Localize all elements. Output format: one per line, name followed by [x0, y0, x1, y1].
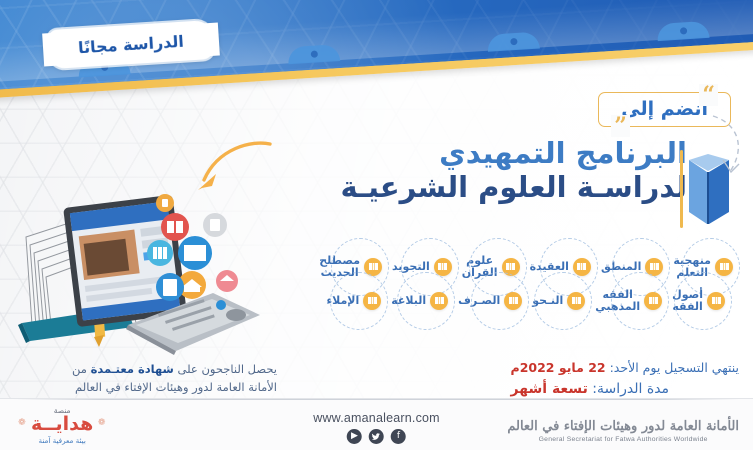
- dates-info: ينتهي التسجيل يوم الأحد: 22 مايو 2022م م…: [511, 358, 739, 401]
- general-secretariat-logo: الأمانة العامة لدور وهيئات الإفتاء في ال…: [507, 419, 739, 443]
- open-book-icon: [707, 292, 725, 310]
- subject-label: التجويد: [392, 261, 430, 273]
- social-links: ▶ f: [313, 429, 440, 444]
- curved-orange-arrow-icon: [188, 138, 274, 204]
- subject-label: الصـرف: [458, 295, 500, 307]
- certificate-suffix: من: [72, 362, 91, 376]
- quote-close-icon: ”: [611, 115, 630, 137]
- join-label: انضم إلى: [621, 98, 708, 120]
- registration-deadline-value: 22 مايو 2022م: [511, 360, 606, 375]
- subject-bubble[interactable]: العقيدة: [524, 255, 593, 279]
- subject-bubble[interactable]: أصول الفقه: [666, 286, 727, 315]
- subject-bubble[interactable]: الفقه المذهبي: [589, 286, 664, 315]
- website-url[interactable]: www.amanalearn.com: [313, 411, 440, 425]
- footer-bar: الأمانة العامة لدور وهيئات الإفتاء في ال…: [0, 398, 753, 450]
- open-book-icon: [715, 258, 733, 276]
- subjects-row-bottom: أصول الفقه الفقه المذهبي النـحو: [305, 286, 727, 315]
- subject-bubble[interactable]: مصطلح الحديث: [313, 252, 384, 281]
- free-study-label: الدراسة مجانًا: [78, 32, 185, 58]
- footer-divider: [14, 399, 739, 400]
- hidaya-logo-tagline: بيئة معرفية آمنة: [18, 436, 106, 445]
- subject-label: الإملاء: [326, 295, 359, 307]
- open-book-icon: [430, 292, 448, 310]
- certificate-highlight: شهادة معتـمدة: [91, 362, 174, 376]
- page-title-line1: البرنامج التمهيدي: [341, 137, 688, 169]
- open-book-icon: [573, 258, 591, 276]
- quote-open-icon: “: [699, 84, 718, 106]
- subject-bubble[interactable]: البلاغة: [385, 289, 450, 313]
- subject-label: علوم القرآن: [462, 255, 498, 278]
- open-book-icon: [567, 292, 585, 310]
- hidaya-logo-main: هدايــة: [18, 415, 106, 435]
- title-gold-rule: [680, 150, 683, 228]
- subject-label: أصول الفقه: [672, 289, 703, 312]
- study-duration-value: تسعة أشهر: [511, 381, 588, 397]
- open-book-icon: [644, 292, 662, 310]
- subject-bubble[interactable]: النـحو: [526, 289, 587, 313]
- curved-dashed-arrow-icon: [705, 112, 749, 188]
- open-book-icon: [434, 258, 452, 276]
- subject-label: مصطلح الحديث: [319, 255, 360, 278]
- promo-banner: الدراسة مجانًا “ انضم إلى ” البرنامج الت…: [0, 0, 753, 450]
- subject-label: البلاغة: [391, 295, 426, 307]
- registration-deadline: ينتهي التسجيل يوم الأحد: 22 مايو 2022م: [511, 358, 739, 378]
- secretariat-logo-arabic: الأمانة العامة لدور وهيئات الإفتاء في ال…: [507, 419, 739, 434]
- subject-bubble[interactable]: الصـرف: [452, 289, 524, 313]
- subject-bubble[interactable]: منهجية التعلم: [667, 252, 735, 281]
- open-book-icon: [502, 258, 520, 276]
- subject-bubble[interactable]: علوم القرآن: [456, 252, 522, 281]
- youtube-icon[interactable]: ▶: [347, 429, 362, 444]
- subjects-list: منهجية التعلم المنطق العقيدة: [305, 252, 735, 340]
- certificate-note-line1: يحصل الناجحون على شهادة معتـمدة من: [14, 360, 277, 378]
- footer-center: www.amanalearn.com ▶ f: [313, 411, 440, 444]
- twitter-icon[interactable]: [369, 429, 384, 444]
- subject-bubble[interactable]: المنطق: [595, 255, 665, 279]
- facebook-icon[interactable]: f: [391, 429, 406, 444]
- subject-bubble[interactable]: التجويد: [386, 255, 454, 279]
- certificate-note-line2: الأمانة العامة لدور وهيئات الإفتاء في ال…: [14, 378, 277, 396]
- subject-bubble[interactable]: الإملاء: [320, 289, 383, 313]
- secretariat-logo-english: General Secretariat for Fatwa Authoritie…: [507, 436, 739, 443]
- subject-label: النـحو: [532, 295, 563, 307]
- certificate-prefix: يحصل الناجحون على: [174, 362, 277, 376]
- open-book-icon: [363, 292, 381, 310]
- subject-label: الفقه المذهبي: [595, 289, 640, 312]
- subject-label: منهجية التعلم: [673, 255, 711, 278]
- subject-label: المنطق: [601, 261, 641, 273]
- hidaya-platform-logo: منصة هدايــة بيئة معرفية آمنة: [18, 406, 106, 445]
- subjects-row-top: منهجية التعلم المنطق العقيدة: [305, 252, 735, 281]
- registration-deadline-label: ينتهي التسجيل يوم الأحد:: [610, 360, 739, 375]
- certificate-note: يحصل الناجحون على شهادة معتـمدة من الأما…: [14, 360, 277, 397]
- study-duration-label: مدة الدراسة:: [592, 381, 669, 397]
- subject-label: العقيدة: [530, 261, 569, 273]
- title-block: “ انضم إلى ” البرنامج التمهيدي لدراسـة ا…: [341, 92, 732, 205]
- open-book-icon: [364, 258, 382, 276]
- page-title-line2: لدراسـة العلوم الشرعيـة: [341, 171, 688, 204]
- open-book-icon: [504, 292, 522, 310]
- open-book-icon: [645, 258, 663, 276]
